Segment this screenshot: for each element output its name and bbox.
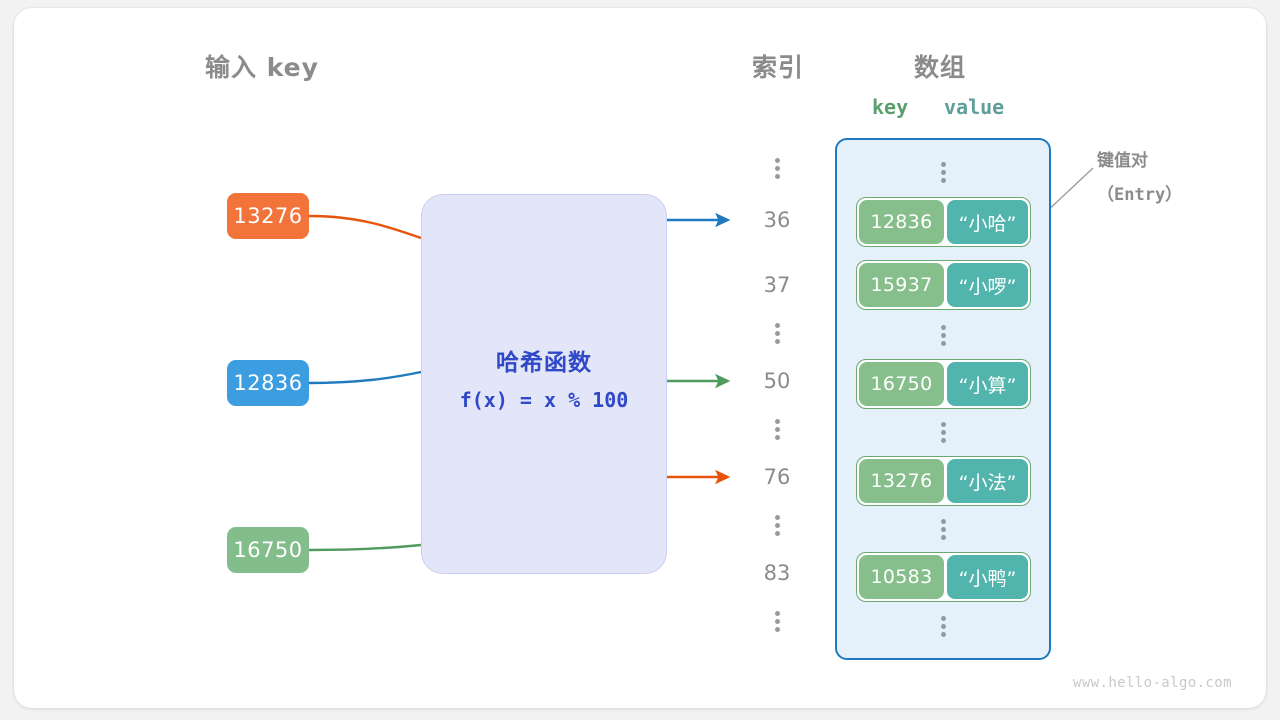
index-label: 36 <box>744 208 810 232</box>
input-key-chip[interactable]: 16750 <box>227 527 309 573</box>
entry-key: 10583 <box>859 555 944 599</box>
column-header-key: key <box>872 95 908 119</box>
index-label: 37 <box>744 273 810 297</box>
index-label: 76 <box>744 465 810 489</box>
array-ellipsis <box>837 613 1049 644</box>
index-ellipsis <box>744 512 810 539</box>
index-ellipsis <box>744 416 810 443</box>
index-ellipsis <box>744 320 810 347</box>
heading-array: 数组 <box>914 48 966 84</box>
entry-item[interactable]: 16750 “小算” <box>856 359 1031 409</box>
input-key-chip[interactable]: 12836 <box>227 360 309 406</box>
heading-index: 索引 <box>752 48 804 84</box>
link-16750 <box>309 545 421 550</box>
entry-value: “小啰” <box>947 263 1028 307</box>
entry-annotation-line1: 键值对 <box>1097 146 1148 171</box>
array-ellipsis <box>837 159 1049 190</box>
entry-key: 12836 <box>859 200 944 244</box>
diagram-stage: 输入 key 索引 数组 key value 13276 12836 16750… <box>0 0 1280 720</box>
link-13276 <box>309 216 421 238</box>
index-label: 50 <box>744 369 810 393</box>
entry-key: 13276 <box>859 459 944 503</box>
index-label: 83 <box>744 561 810 585</box>
index-ellipsis <box>744 155 810 182</box>
entry-item[interactable]: 10583 “小鸭” <box>856 552 1031 602</box>
entry-value: “小哈” <box>947 200 1028 244</box>
watermark: www.hello-algo.com <box>1073 675 1232 691</box>
array-ellipsis <box>837 516 1049 547</box>
column-header-value: value <box>944 95 1004 119</box>
array-ellipsis <box>837 419 1049 450</box>
entry-value: “小鸭” <box>947 555 1028 599</box>
entry-value: “小法” <box>947 459 1028 503</box>
hash-function-formula: f(x) = x % 100 <box>422 388 666 412</box>
index-ellipsis <box>744 608 810 635</box>
heading-input-key: 输入 key <box>205 48 319 84</box>
entry-item[interactable]: 13276 “小法” <box>856 456 1031 506</box>
hash-function-box: 哈希函数 f(x) = x % 100 <box>421 194 667 574</box>
entry-value: “小算” <box>947 362 1028 406</box>
entry-key: 16750 <box>859 362 944 406</box>
array-ellipsis <box>837 322 1049 353</box>
entry-item[interactable]: 12836 “小哈” <box>856 197 1031 247</box>
input-key-chip[interactable]: 13276 <box>227 193 309 239</box>
array-container: 12836 “小哈” 15937 “小啰” 16750 “小算” 13276 “… <box>835 138 1051 660</box>
entry-key: 15937 <box>859 263 944 307</box>
link-12836 <box>309 372 421 383</box>
hash-function-title: 哈希函数 <box>422 343 666 377</box>
entry-annotation-line2: （Entry） <box>1097 180 1182 205</box>
entry-item[interactable]: 15937 “小啰” <box>856 260 1031 310</box>
